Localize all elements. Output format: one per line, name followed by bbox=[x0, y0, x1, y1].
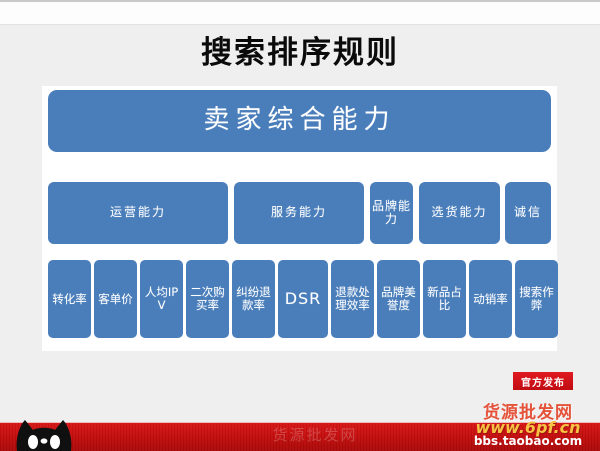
tier3-box-sell-through-rate[interactable]: 动销率 bbox=[469, 260, 512, 338]
tier2-label: 选货能力 bbox=[431, 206, 487, 219]
tier3-label: 转化率 bbox=[50, 293, 89, 306]
tier3-box-new-product-share[interactable]: 新品占比 bbox=[423, 260, 466, 338]
tier2-box-brand[interactable]: 品牌能力 bbox=[370, 182, 413, 244]
tier2-box-operation[interactable]: 运营能力 bbox=[48, 182, 228, 244]
tier3-label: 客单价 bbox=[96, 293, 135, 306]
tier3-label: 退款处理效率 bbox=[333, 286, 372, 312]
tier3-label: 品牌美誉度 bbox=[379, 286, 418, 312]
tmall-cat-icon bbox=[13, 414, 75, 451]
page-title: 搜索排序规则 bbox=[0, 36, 600, 70]
tier2-box-service[interactable]: 服务能力 bbox=[234, 182, 364, 244]
tier2-label: 诚信 bbox=[514, 206, 542, 219]
slide-page: 搜索排序规则 卖家综合能力 运营能力 服务能力 品牌能力 选货能力 诚信 bbox=[0, 0, 600, 451]
tier2-box-selection[interactable]: 选货能力 bbox=[419, 182, 500, 244]
tier3-label: 新品占比 bbox=[425, 286, 464, 312]
tier3-label: DSR bbox=[280, 290, 326, 308]
tier1-label: 卖家综合能力 bbox=[203, 106, 395, 135]
tier2-label: 服务能力 bbox=[271, 206, 327, 219]
tier3-label: 人均IPV bbox=[142, 286, 181, 312]
tier2-box-integrity[interactable]: 诚信 bbox=[505, 182, 551, 244]
slide-canvas: 搜索排序规则 卖家综合能力 运营能力 服务能力 品牌能力 选货能力 诚信 bbox=[0, 25, 600, 422]
diagram-card: 卖家综合能力 运营能力 服务能力 品牌能力 选货能力 诚信 转化率 bbox=[42, 86, 557, 351]
tier3-label: 二次购买率 bbox=[188, 286, 227, 312]
tier3-box-conversion-rate[interactable]: 转化率 bbox=[48, 260, 91, 338]
tier1-box-seller-capability[interactable]: 卖家综合能力 bbox=[48, 90, 551, 152]
watermark-forum-url: bbs.taobao.com bbox=[462, 434, 594, 448]
tier3-box-ipv-per-capita[interactable]: 人均IPV bbox=[140, 260, 183, 338]
official-release-badge: 官方发布 bbox=[513, 372, 573, 390]
tier3-label: 纠纷退款率 bbox=[234, 286, 273, 312]
tier3-box-search-cheating[interactable]: 搜索作弊 bbox=[515, 260, 558, 338]
tier3-box-unit-price[interactable]: 客单价 bbox=[94, 260, 137, 338]
tier3-box-brand-reputation[interactable]: 品牌美誉度 bbox=[377, 260, 420, 338]
tier3-box-dsr[interactable]: DSR bbox=[278, 260, 328, 338]
tier3-label: 搜索作弊 bbox=[517, 286, 556, 312]
tier3-box-refund-handling-efficiency[interactable]: 退款处理效率 bbox=[331, 260, 374, 338]
tier3-label: 动销率 bbox=[471, 293, 510, 306]
tier2-label: 运营能力 bbox=[110, 206, 166, 219]
tier3-box-dispute-refund-rate[interactable]: 纠纷退款率 bbox=[232, 260, 275, 338]
tier3-box-repurchase-rate[interactable]: 二次购买率 bbox=[186, 260, 229, 338]
tier2-label: 品牌能力 bbox=[370, 200, 413, 227]
watermark-ghost-text: 货源批发网 bbox=[200, 424, 430, 445]
window-top-strip bbox=[0, 2, 600, 25]
